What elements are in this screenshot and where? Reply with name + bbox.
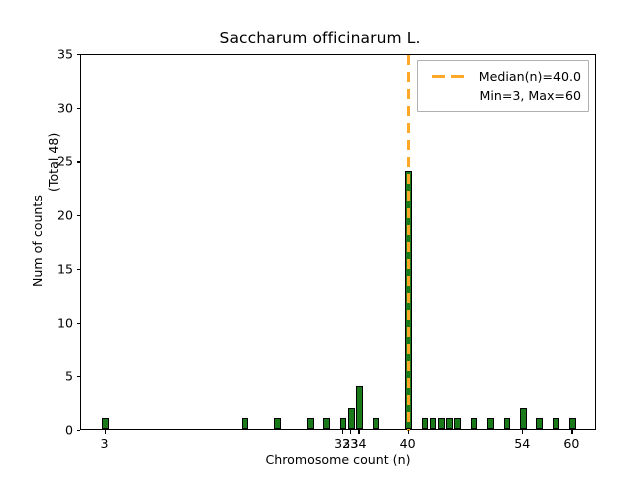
- legend-entry: Median(n)=40.0: [425, 67, 581, 86]
- x-tick-mark: [350, 430, 351, 434]
- median-dash: [407, 191, 410, 201]
- median-dash: [407, 395, 410, 405]
- median-dash: [407, 327, 410, 337]
- x-tick-mark: [522, 430, 523, 434]
- y-tick-label: 5: [65, 369, 73, 384]
- median-dash: [407, 242, 410, 252]
- y-tick-label: 30: [57, 100, 73, 115]
- median-dash: [407, 344, 410, 354]
- x-axis-label: Chromosome count (n): [80, 452, 596, 467]
- x-tick-label: 60: [563, 436, 579, 451]
- median-dash: [407, 157, 410, 167]
- x-tick-label: 54: [514, 436, 530, 451]
- legend-box: Median(n)=40.0Min=3, Max=60: [417, 60, 589, 112]
- median-dash: [407, 140, 410, 150]
- y-tick-label: 10: [57, 315, 73, 330]
- median-dash: [407, 412, 410, 422]
- x-tick-label: 3: [101, 436, 109, 451]
- x-tick-mark: [105, 430, 106, 434]
- y-tick-label: 15: [57, 261, 73, 276]
- median-dash: [407, 72, 410, 82]
- median-dash: [407, 55, 410, 65]
- x-tick-mark: [342, 430, 343, 434]
- y-axis-ticks: 05101520253035: [0, 54, 80, 430]
- median-dash: [407, 123, 410, 133]
- x-tick-label: 34: [350, 436, 366, 451]
- legend-label: Median(n)=40.0: [479, 69, 581, 84]
- x-tick-label: 40: [400, 436, 416, 451]
- x-tick-mark: [358, 430, 359, 434]
- median-dash: [407, 378, 410, 388]
- y-tick-label: 35: [57, 47, 73, 62]
- legend-dash: [451, 75, 464, 78]
- legend-dashed-line-swatch: [430, 71, 470, 83]
- median-dash: [407, 259, 410, 269]
- x-tick-mark: [571, 430, 572, 434]
- median-line: [407, 55, 410, 429]
- legend-entry: Min=3, Max=60: [425, 86, 581, 105]
- y-tick-label: 0: [65, 423, 73, 438]
- chart-title: Saccharum officinarum L.: [0, 29, 640, 47]
- legend-dash: [432, 75, 445, 78]
- median-dash: [407, 89, 410, 99]
- figure-canvas: Saccharum officinarum L. Num of counts (…: [0, 0, 640, 480]
- median-dash: [407, 361, 410, 371]
- legend-label: Min=3, Max=60: [479, 88, 581, 103]
- median-dash: [407, 174, 410, 184]
- median-dash: [407, 293, 410, 303]
- median-dash: [407, 310, 410, 320]
- median-dash: [407, 276, 410, 286]
- x-tick-mark: [408, 430, 409, 434]
- y-tick-label: 20: [57, 208, 73, 223]
- median-dash: [407, 106, 410, 116]
- y-tick-label: 25: [57, 154, 73, 169]
- median-dash: [407, 225, 410, 235]
- median-dash: [407, 208, 410, 218]
